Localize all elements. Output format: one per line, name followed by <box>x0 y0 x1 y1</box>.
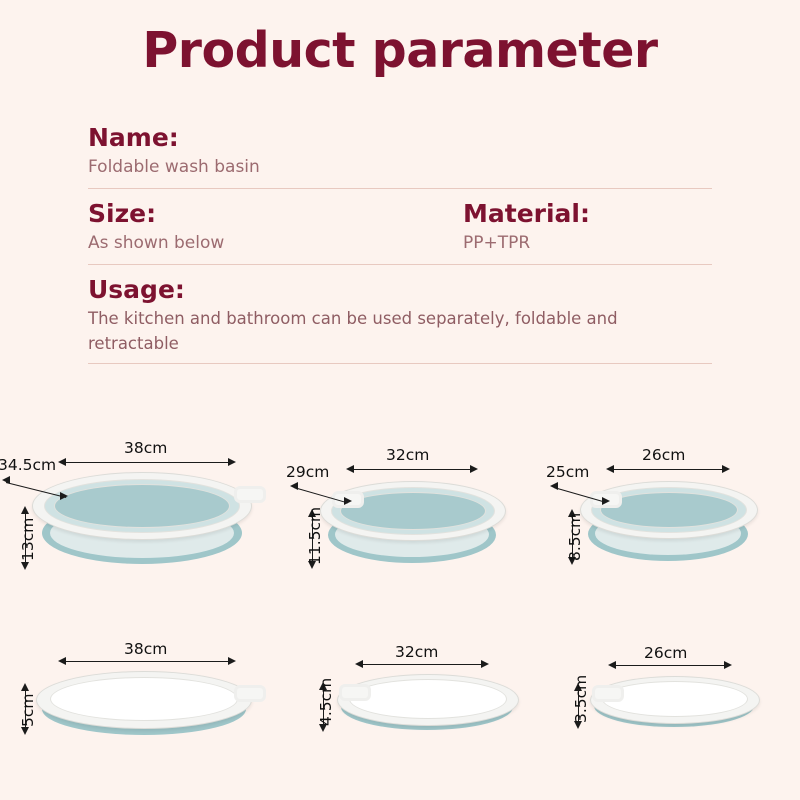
figure-small-basin-folded: 26cm 3.5cm <box>580 663 780 745</box>
size-label: Size: <box>88 198 463 229</box>
dim-small-height: 8.5cm <box>566 513 584 561</box>
figure-medium-basin-open: 32cm 29cm 11.5cm <box>300 467 520 587</box>
dim-medium-depth: 29cm <box>286 463 329 481</box>
dim-medium-height: 11.5cm <box>306 507 324 565</box>
dim-medium-folded-width: 32cm <box>395 643 438 661</box>
basin-handle-icon <box>234 486 266 503</box>
basin-handle-icon <box>339 684 371 701</box>
name-label: Name: <box>88 122 712 153</box>
spec-row-size-material: Size: As shown below Material: PP+TPR <box>88 198 712 265</box>
figure-medium-basin-folded: 32cm 4.5cm <box>325 660 535 745</box>
figure-small-basin-open: 26cm 25cm 8.5cm <box>560 467 780 587</box>
material-cell: Material: PP+TPR <box>463 198 712 257</box>
dim-large-depth: 34.5cm <box>0 456 56 474</box>
figure-large-basin-open: 38cm 34.5cm 13cm <box>20 460 270 585</box>
spec-row-name: Name: Foldable wash basin <box>88 122 712 189</box>
spec-table: Name: Foldable wash basin Size: As shown… <box>88 122 712 373</box>
basin-handle-icon <box>592 685 624 702</box>
page-title: Product parameter <box>0 22 800 79</box>
size-value: As shown below <box>88 231 463 257</box>
usage-value: The kitchen and bathroom can be used sep… <box>88 307 712 357</box>
basin-handle-icon <box>234 685 266 702</box>
dim-large-folded-width: 38cm <box>124 640 167 658</box>
dim-small-folded-width: 26cm <box>644 644 687 662</box>
dim-medium-folded-height: 4.5cm <box>317 678 335 726</box>
product-parameter-page: Product parameter Name: Foldable wash ba… <box>0 0 800 800</box>
dim-small-depth: 25cm <box>546 463 589 481</box>
usage-label: Usage: <box>88 274 712 305</box>
dim-large-height: 13cm <box>19 518 37 561</box>
name-value: Foldable wash basin <box>88 155 712 181</box>
product-dimension-figures: 38cm 34.5cm 13cm 32cm <box>0 405 800 800</box>
spec-row-usage: Usage: The kitchen and bathroom can be u… <box>88 274 712 365</box>
dim-large-width: 38cm <box>124 439 167 457</box>
size-cell: Size: As shown below <box>88 198 463 257</box>
figure-large-basin-folded: 38cm 5cm <box>20 655 270 745</box>
dim-medium-width: 32cm <box>386 446 429 464</box>
material-label: Material: <box>463 198 712 229</box>
material-value: PP+TPR <box>463 231 712 257</box>
dim-large-folded-height: 5cm <box>19 694 37 727</box>
dim-small-folded-height: 3.5cm <box>572 675 590 723</box>
dim-small-width: 26cm <box>642 446 685 464</box>
